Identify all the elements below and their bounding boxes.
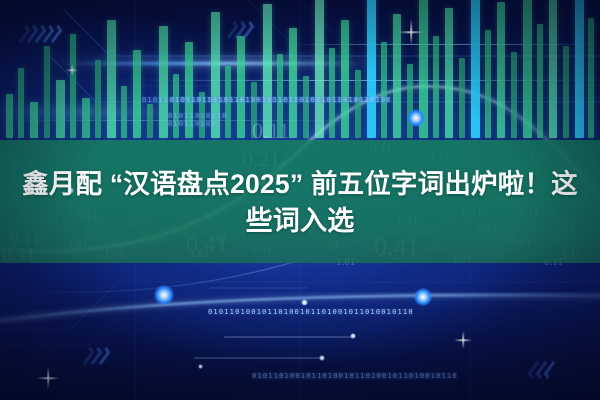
headline-line-1: 鑫月配 “汉语盘点2025” 前五位字词出炉啦！这 <box>0 166 600 203</box>
page-title: 鑫月配 “汉语盘点2025” 前五位字词出炉啦！这 些词入选 <box>0 166 600 240</box>
sparkle-star-icon <box>398 19 424 45</box>
sparkle-star-icon <box>66 64 78 76</box>
sparkle-star-icon <box>454 331 472 349</box>
sparkle-star-icon <box>37 367 59 389</box>
headline-line-2: 些词入选 <box>0 203 600 240</box>
banner-image: 0.110.210.111.111.111.000.111.011.000.11… <box>0 0 600 400</box>
